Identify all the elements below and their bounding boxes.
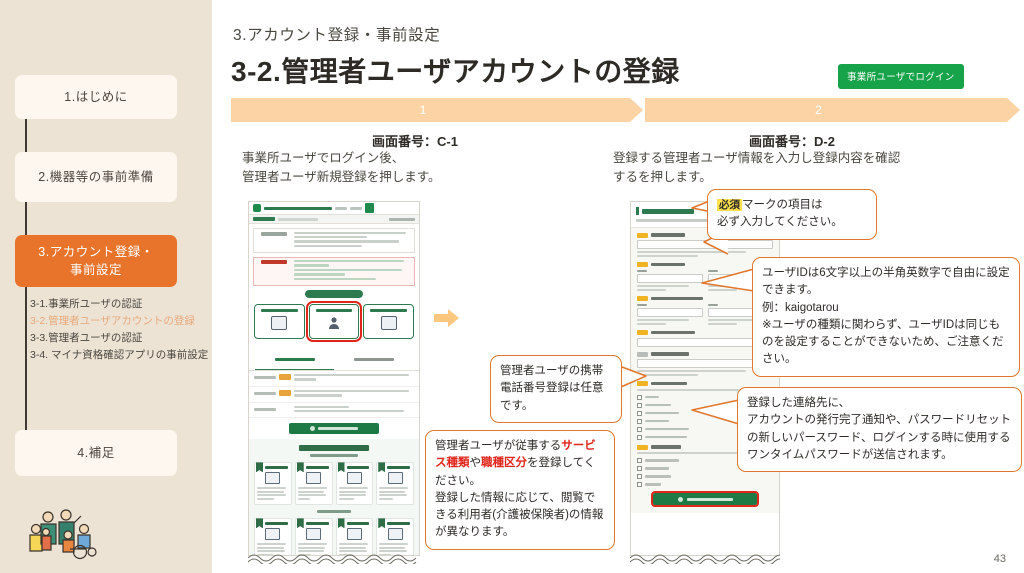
mock-howto-card[interactable] [295, 518, 333, 556]
callout-service-type: 管理者ユーザが従事するサービス種類や職種区分を登録してください。 登録した情報に… [425, 430, 615, 550]
step-2-number: 2 [815, 103, 822, 117]
mock-news-row [249, 387, 419, 403]
document-icon [388, 528, 403, 540]
mock-notice-panel [253, 228, 415, 253]
step-1: 1 [231, 98, 643, 122]
mock-site-logo-icon [253, 204, 261, 212]
person-add-icon [326, 316, 342, 330]
callout-service-highlight-2: 職種区分 [481, 457, 527, 469]
menu-icon [365, 203, 374, 213]
mock-howto-card[interactable] [376, 518, 414, 556]
mock-howto-subtitle [310, 454, 358, 457]
mock-news-list-button[interactable] [289, 423, 379, 434]
callout-user-id: ユーザIDは6文字以上の半角英数字で自由に設定できます。 例：kaigotaro… [752, 257, 1020, 377]
mock-checkbox-job[interactable] [637, 474, 773, 479]
mock-news-list [249, 370, 419, 418]
screen-description-d2: 登録する管理者ユーザ情報を入力し登録内容を確認 するを押します。 [613, 149, 1013, 187]
mock-input-last-name-kana[interactable] [637, 308, 703, 317]
mock-checkbox-job[interactable] [637, 482, 773, 487]
sidebar-item-supplement[interactable]: 4.補足 [15, 430, 177, 476]
page-number: 43 [994, 553, 1006, 565]
callout-email-notice: 登録した連絡先に、 アカウントの発行完了通知や、パスワードリセットの新しいパース… [737, 387, 1022, 472]
mock-site-name [264, 207, 332, 210]
step-banner: 1 2 [231, 98, 1020, 122]
mock-subbar [249, 215, 419, 224]
person-card-icon [381, 316, 397, 330]
mock-howto-card[interactable] [295, 462, 333, 505]
callout-phone-optional: 管理者ユーザの携帯電話番号登録は任意です。 [490, 355, 622, 423]
mock-howto-card[interactable] [254, 462, 292, 505]
mock-howto-card[interactable] [336, 518, 374, 556]
mock-input-last-name[interactable] [637, 274, 703, 283]
mock-card-admin-login[interactable] [254, 304, 305, 340]
device-icon [388, 472, 403, 484]
callout-required-text: マークの項目は [742, 199, 823, 211]
sidebar-subitem-3-4[interactable]: 3-4. マイナ資格確認アプリの事前設定 [30, 347, 210, 364]
mock-howto-card[interactable] [254, 518, 292, 556]
mock-breadcrumb-text [278, 218, 318, 221]
screen-number-d2: 画面番号：D-2 [749, 131, 835, 150]
required-badge [637, 262, 648, 267]
mock-howto-card[interactable] [336, 462, 374, 505]
mock-section-divider-label [317, 510, 351, 513]
mock-tab-archived-news[interactable] [334, 348, 413, 370]
sidebar-item-account-registration[interactable]: 3.アカウント登録・ 事前設定 [15, 235, 177, 287]
mock-confirm-registration-button[interactable] [653, 493, 757, 505]
sidebar-subitem-3-3[interactable]: 3-3.管理者ユーザの認証 [30, 330, 210, 347]
mock-fontsize-control [389, 218, 415, 221]
mock-howto-grid-row-1 [254, 462, 414, 505]
sidebar-subitem-3-1[interactable]: 3-1.事業所ユーザの認証 [30, 296, 210, 313]
mock-news-tabs [255, 348, 413, 370]
mock-login-card-row [249, 301, 419, 343]
callout-service-line2: 登録した情報に応じて、閲覧できる利用者(介護被保険者)の情報が異なります。 [435, 492, 603, 539]
torn-edge-decoration [248, 552, 420, 564]
people-group-icon [22, 499, 112, 561]
step-2: 2 [645, 98, 1020, 122]
document-icon [306, 472, 321, 484]
sidebar-subitem-3-2[interactable]: 3-2.管理者ユーザアカウントの登録 [30, 313, 210, 330]
mock-topbar [249, 202, 419, 215]
sidebar-item-equipment-prep[interactable]: 2.機器等の事前準備 [15, 152, 177, 202]
callout-required-mark: 必須マークの項目は 必ず入力してください。 [707, 189, 877, 240]
device-icon [265, 528, 280, 540]
mock-news-row [249, 371, 419, 387]
mock-news-row [249, 403, 419, 419]
mock-form-title [642, 209, 694, 214]
mock-howto-grid-row-2 [254, 518, 414, 556]
sidebar: 1.はじめに 2.機器等の事前準備 3.アカウント登録・ 事前設定 4.補足 3… [0, 0, 212, 573]
optional-badge [637, 352, 648, 357]
monitor-icon [347, 528, 362, 540]
callout-service-mid: や [470, 457, 482, 469]
mock-howto-section [249, 439, 419, 556]
mock-alert-panel [253, 257, 415, 286]
person-card-icon [271, 316, 287, 330]
required-badge [637, 445, 648, 450]
flow-arrow-icon [434, 308, 460, 328]
mock-section-pill [305, 290, 363, 298]
person-icon [347, 472, 362, 484]
screen-number-c1: 画面番号：C-1 [372, 131, 458, 150]
mock-breadcrumb-tag [253, 217, 275, 221]
mock-nav-item [350, 207, 362, 210]
mock-howto-card[interactable] [376, 462, 414, 505]
required-badge [637, 296, 648, 301]
mock-tab-latest-news[interactable] [255, 348, 334, 370]
callout-service-part1: 管理者ユーザが従事する [435, 440, 561, 452]
step-1-number: 1 [420, 103, 427, 117]
page-title: 3-2.管理者ユーザアカウントの登録 [231, 50, 680, 90]
mock-card-general-user[interactable] [363, 304, 414, 340]
monitor-icon [265, 472, 280, 484]
mock-nav-item [335, 207, 347, 210]
required-badge-label: 必須 [717, 199, 742, 211]
mock-howto-title [299, 445, 369, 451]
callout-tail [690, 396, 740, 430]
sidebar-item-label: 1.はじめに [64, 88, 127, 106]
required-badge [637, 233, 648, 238]
callout-required-line2: 必ず入力してください。 [717, 216, 843, 228]
screenshot-mockup-c1 [248, 201, 420, 556]
person-icon [306, 528, 321, 540]
sidebar-item-label: 2.機器等の事前準備 [38, 168, 153, 186]
sidebar-sub-list: 3-1.事業所ユーザの認証 3-2.管理者ユーザアカウントの登録 3-3.管理者… [30, 296, 210, 364]
sidebar-item-intro[interactable]: 1.はじめに [15, 75, 177, 119]
screen-description-c1: 事業所ユーザでログイン後、 管理者ユーザ新規登録を押します。 [242, 149, 441, 187]
sidebar-item-label: 4.補足 [77, 444, 114, 462]
required-badge [637, 330, 648, 335]
mock-card-admin-new-registration[interactable] [309, 304, 360, 340]
login-role-badge: 事業所ユーザでログイン [838, 64, 964, 89]
page-kicker: 3.アカウント登録・事前設定 [233, 23, 440, 45]
sidebar-item-label: 3.アカウント登録・ 事前設定 [38, 243, 153, 279]
torn-edge-decoration [630, 552, 780, 564]
callout-tail [700, 265, 756, 295]
